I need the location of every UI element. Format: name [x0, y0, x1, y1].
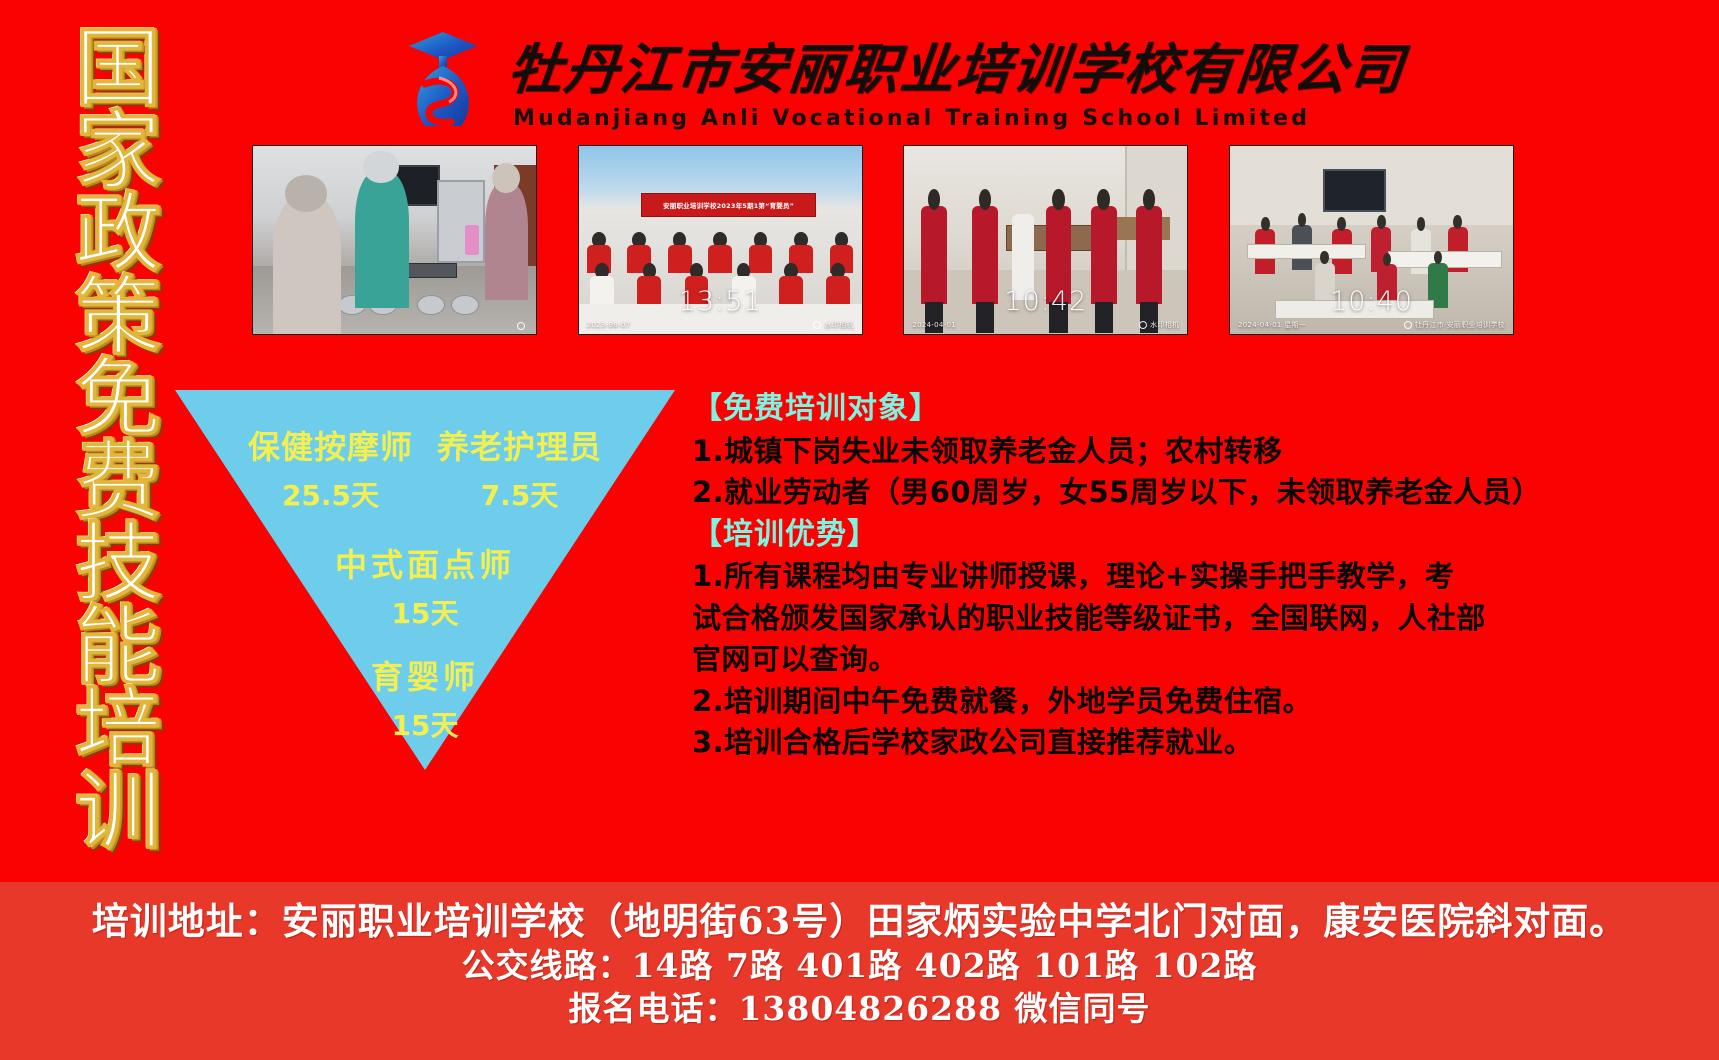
- school-name-cn: 牡丹江市安丽职业培训学校有限公司: [505, 25, 1409, 104]
- course-item-childcare: 育婴师 15天: [175, 652, 675, 744]
- advantage-line: 1.所有课程均由专业讲师授课，理论+实操手把手教学，考: [692, 556, 1692, 597]
- course-duration: 7.5天: [437, 474, 602, 514]
- photo-timestamp: 10:42: [1004, 286, 1087, 317]
- vertical-headline-char: 培: [75, 688, 161, 771]
- photo-watermark: 2024-04-01 星期一 牡丹江市·安丽职业培训学校: [1238, 320, 1505, 330]
- course-name: 保健按摩师: [248, 422, 413, 468]
- advantage-line: 官网可以查询。: [692, 639, 1692, 680]
- gallery-photo: 10:42 2024-04-01 水印相机: [903, 145, 1188, 335]
- photo-watermark-brand: 牡丹江市·安丽职业培训学校: [1404, 320, 1505, 330]
- camera-icon: [1404, 321, 1412, 329]
- footer-contact-band: 培训地址：安丽职业培训学校（地明街63号）田家炳实验中学北门对面，康安医院斜对面…: [0, 882, 1719, 1060]
- section-heading-eligibility: 【免费培训对象】: [692, 388, 1692, 431]
- photo-timestamp: 10:40: [1330, 286, 1413, 317]
- photo-watermark: 2024-04-01 水印相机: [912, 320, 1179, 330]
- gallery-photo: 安丽职业培训学校2023年5期1第“育婴员”: [578, 145, 863, 335]
- advantage-line: 试合格颁发国家承认的职业技能等级证书，全国联网，人社部: [692, 598, 1692, 639]
- course-duration: 25.5天: [248, 474, 413, 514]
- eligibility-line: 2.就业劳动者（男60周岁，女55周岁以下，未领取养老金人员）: [692, 472, 1692, 513]
- advantage-line: 3.培训合格后学校家政公司直接推荐就业。: [692, 722, 1692, 763]
- camera-icon: [1139, 321, 1147, 329]
- camera-icon: [517, 322, 525, 330]
- course-triangle: 保健按摩师 25.5天 养老护理员 7.5天 中式面点师 15天 育婴师 15天: [175, 390, 675, 770]
- photo-watermark: [261, 322, 528, 330]
- school-name-en: Mudanjiang Anli Vocational Training Scho…: [513, 106, 1405, 131]
- footer-bus-routes: 公交线路：14路 7路 401路 402路 101路 102路: [0, 945, 1719, 987]
- photo-watermark: 2023-08-07 水印相机: [587, 320, 854, 330]
- school-header: 牡丹江市安丽职业培训学校有限公司 Mudanjiang Anli Vocatio…: [395, 22, 1315, 134]
- info-column: 【免费培训对象】 1.城镇下岗失业未领取养老金人员；农村转移 2.就业劳动者（男…: [692, 388, 1692, 763]
- gallery-photo: 10:40 2024-04-01 星期一 牡丹江市·安丽职业培训学校: [1229, 145, 1514, 335]
- vertical-headline-char: 免: [75, 358, 161, 441]
- course-duration: 15天: [175, 704, 675, 744]
- photo-watermark-date: 2024-04-01: [912, 321, 956, 329]
- course-name: 养老护理员: [437, 422, 602, 468]
- gallery-photo: [252, 145, 537, 335]
- section-heading-advantages: 【培训优势】: [692, 514, 1692, 557]
- vertical-headline-char: 训: [75, 771, 161, 854]
- vertical-headline: 国 家 政 策 免 费 技 能 培 训: [62, 28, 174, 853]
- vertical-headline-char: 费: [75, 441, 161, 524]
- photo-timestamp: 13:51: [679, 286, 762, 317]
- course-item-massage: 保健按摩师 25.5天: [248, 422, 413, 514]
- course-duration: 15天: [175, 592, 675, 632]
- vertical-headline-char: 能: [75, 606, 161, 689]
- school-name-block: 牡丹江市安丽职业培训学校有限公司 Mudanjiang Anli Vocatio…: [509, 25, 1405, 131]
- photo-watermark-brand: [517, 322, 528, 330]
- vertical-headline-char: 策: [75, 276, 161, 359]
- photo-watermark-brand: 水印相机: [1139, 320, 1179, 330]
- vertical-headline-char: 国: [75, 28, 161, 111]
- footer-phone: 报名电话：13804826288 微信同号: [0, 988, 1719, 1030]
- graduation-cap-logo-icon: [395, 26, 491, 130]
- course-item-elder-care: 养老护理员 7.5天: [437, 422, 602, 514]
- photo-banner-text: 安丽职业培训学校2023年5期1第“育婴员”: [641, 193, 816, 217]
- photo-watermark-date: 2024-04-01 星期一: [1238, 320, 1306, 330]
- photo-gallery: 安丽职业培训学校2023年5期1第“育婴员”: [252, 145, 1514, 335]
- vertical-headline-char: 政: [75, 193, 161, 276]
- footer-address: 培训地址：安丽职业培训学校（地明街63号）田家炳实验中学北门对面，康安医院斜对面…: [0, 898, 1719, 945]
- course-item-pastry: 中式面点师 15天: [175, 540, 675, 632]
- poster-root: 国 家 政 策 免 费 技 能 培 训: [0, 0, 1719, 1060]
- vertical-headline-char: 技: [75, 523, 161, 606]
- course-name: 中式面点师: [175, 540, 675, 586]
- photo-scene-pastry-class: [253, 146, 536, 334]
- photo-watermark-brand: 水印相机: [813, 320, 853, 330]
- eligibility-line: 1.城镇下岗失业未领取养老金人员；农村转移: [692, 431, 1692, 472]
- advantage-line: 2.培训期间中午免费就餐，外地学员免费住宿。: [692, 681, 1692, 722]
- course-row-top: 保健按摩师 25.5天 养老护理员 7.5天: [175, 422, 675, 514]
- course-name: 育婴师: [175, 652, 675, 698]
- photo-watermark-date: 2023-08-07: [587, 321, 631, 329]
- camera-icon: [813, 321, 821, 329]
- vertical-headline-char: 家: [75, 111, 161, 194]
